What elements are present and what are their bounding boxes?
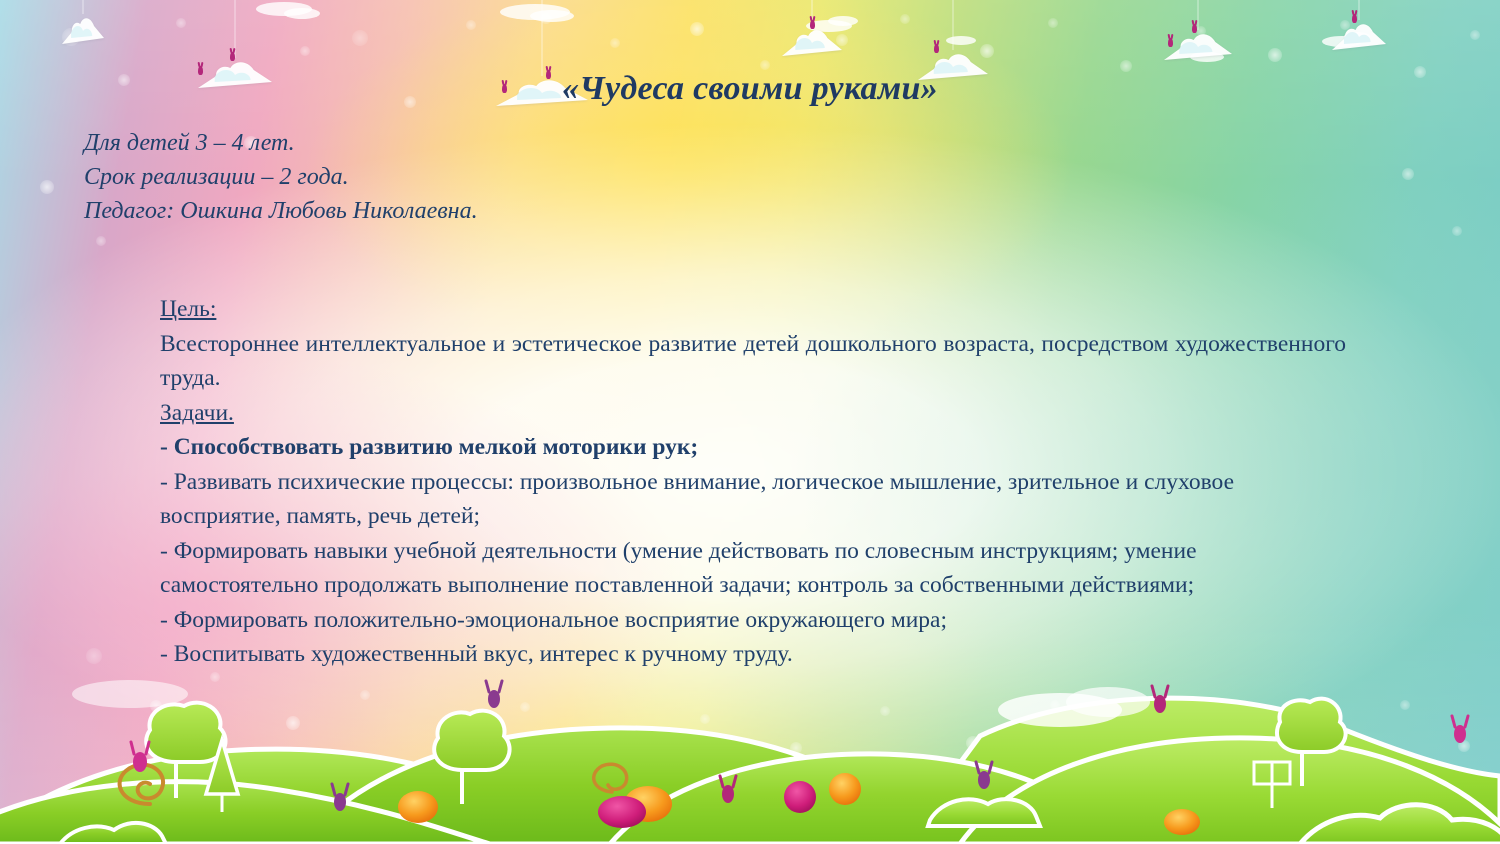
bunny-hill-center xyxy=(720,776,736,803)
cloud-behind-right xyxy=(998,693,1122,727)
sparkle xyxy=(1048,18,1058,28)
body-content: Цель: Всестороннее интеллектуальное и эс… xyxy=(160,292,1346,672)
hill-bump-right xyxy=(1300,805,1500,844)
bush-orange-right xyxy=(829,773,861,805)
spiral-left xyxy=(120,765,163,804)
bunny-hill-mid xyxy=(332,784,348,811)
sparkle xyxy=(1318,742,1332,756)
sparkle xyxy=(62,28,80,46)
sparkle xyxy=(446,724,458,736)
sparkle xyxy=(360,690,370,700)
sparkle xyxy=(966,736,980,750)
spiral-center xyxy=(594,764,627,792)
bush-orange-center xyxy=(624,786,672,822)
sparkle xyxy=(40,180,54,194)
sparkle xyxy=(1196,26,1206,36)
sparkle xyxy=(790,742,802,754)
sparkle xyxy=(520,770,528,778)
sparkle xyxy=(1458,740,1470,752)
subtitle-line-teacher: Педагог: Ошкина Любовь Николаевна. xyxy=(84,194,478,228)
bunny-icon xyxy=(1168,38,1173,47)
bunny-hill-right-a xyxy=(976,762,992,789)
hill-center-left xyxy=(300,728,920,844)
task-item-4: - Формировать положительно-эмоциональное… xyxy=(160,603,1346,638)
sparkle xyxy=(1340,20,1350,30)
sparkle xyxy=(1050,700,1060,710)
mini-cloud xyxy=(500,4,570,20)
slide-title: «Чудеса своими руками» xyxy=(0,70,1500,108)
subtitle-line-duration: Срок реализации – 2 года. xyxy=(84,160,478,194)
mobile-string xyxy=(83,0,84,14)
bunny-icon xyxy=(810,20,815,29)
sparkle xyxy=(176,18,186,28)
task-item-3: - Формировать навыки учебной деятельност… xyxy=(160,534,1346,603)
sparkle xyxy=(612,736,626,750)
bunny-hill-far-right xyxy=(1452,716,1468,743)
mini-cloud xyxy=(530,10,574,22)
task-item-2: - Развивать психические процессы: произв… xyxy=(160,465,1346,534)
cloud-behind-right-2 xyxy=(1066,687,1150,717)
bush-orange-far-right xyxy=(1164,809,1200,835)
sparkle xyxy=(86,648,102,664)
bush-magenta-center xyxy=(598,796,646,828)
sparkle xyxy=(286,716,300,730)
bunny-icon xyxy=(230,52,235,61)
hill-center xyxy=(610,754,1130,844)
cloud-platform-icon xyxy=(780,26,844,60)
task-item-5: - Воспитывать художественный вкус, интер… xyxy=(160,637,1346,672)
tree-center-right xyxy=(434,711,509,804)
bunny-hill-left xyxy=(131,742,149,772)
mini-cloud xyxy=(806,20,852,32)
sparkle xyxy=(1268,48,1282,62)
sparkle xyxy=(1452,226,1462,236)
mini-cloud xyxy=(1190,52,1224,62)
mini-cloud xyxy=(946,36,976,45)
hill-bump-center xyxy=(928,799,1040,826)
sparkle xyxy=(880,706,890,716)
sparkle xyxy=(540,12,552,24)
bunny-icon xyxy=(934,44,939,53)
mini-cloud xyxy=(284,8,320,19)
sparkle xyxy=(466,20,476,30)
tree-left xyxy=(146,703,225,798)
bush-orange-left xyxy=(398,791,438,823)
goal-heading: Цель: xyxy=(160,292,1346,327)
sparkle xyxy=(1226,704,1236,714)
sparkle xyxy=(96,236,106,246)
bunny-icon xyxy=(1192,24,1197,33)
subtitle-line-age: Для детей 3 – 4 лет. xyxy=(84,126,478,160)
tasks-heading: Задачи. xyxy=(160,396,1346,431)
goal-text: Всестороннее интеллектуальное и эстетиче… xyxy=(160,327,1346,396)
mini-cloud xyxy=(1344,32,1370,41)
sparkle xyxy=(836,34,848,46)
sparkle xyxy=(1140,730,1152,742)
hill-left xyxy=(0,749,560,844)
cloud-behind-left xyxy=(72,680,188,708)
mobile-string xyxy=(953,0,954,50)
bottom-scenery xyxy=(0,644,1500,844)
tree-right xyxy=(1277,699,1346,786)
mini-cloud xyxy=(828,16,858,26)
sparkle xyxy=(760,60,770,70)
sparkle xyxy=(1400,700,1410,710)
subtitle-block: Для детей 3 – 4 лет. Срок реализации – 2… xyxy=(84,126,478,228)
cloud-platform-icon xyxy=(1330,20,1388,54)
tree-conifer xyxy=(206,740,238,812)
mobile-string xyxy=(1198,0,1199,30)
sparkle xyxy=(240,762,250,772)
hill-front-left xyxy=(0,782,490,844)
sparkle xyxy=(610,38,620,48)
mobile-string xyxy=(542,0,543,76)
mobile-string xyxy=(1359,0,1360,20)
presentation-slide: «Чудеса своими руками» Для детей 3 – 4 л… xyxy=(0,0,1500,844)
sparkle xyxy=(300,46,310,56)
sparkle xyxy=(352,30,368,46)
bunny-hill-center-left xyxy=(486,681,502,708)
sparkle xyxy=(1080,764,1090,774)
cloud-platform-icon xyxy=(1162,30,1234,64)
sparkle xyxy=(1470,30,1480,40)
sparkle xyxy=(690,22,704,36)
mobile-string xyxy=(235,0,236,58)
sparkle xyxy=(980,44,994,58)
bunny-icon xyxy=(1352,14,1357,23)
mobile-string xyxy=(812,0,813,26)
task-item-1: - Способствовать развитию мелкой моторик… xyxy=(160,430,1346,465)
sparkle xyxy=(520,702,530,712)
sparkle xyxy=(900,14,910,24)
hill-far-right xyxy=(900,698,1500,844)
signpost-right xyxy=(1254,762,1290,808)
sparkle xyxy=(700,714,710,724)
bunny-hill-right-b xyxy=(1152,686,1168,713)
cloud-platform-icon xyxy=(60,14,106,48)
hill-right xyxy=(960,738,1500,844)
sparkle xyxy=(150,700,162,712)
sparkle xyxy=(1402,168,1414,180)
sparkle xyxy=(210,672,220,682)
mini-cloud xyxy=(1322,36,1362,47)
hill-bump-left xyxy=(60,823,166,844)
mini-cloud xyxy=(256,2,312,16)
bush-magenta-right xyxy=(784,781,816,813)
